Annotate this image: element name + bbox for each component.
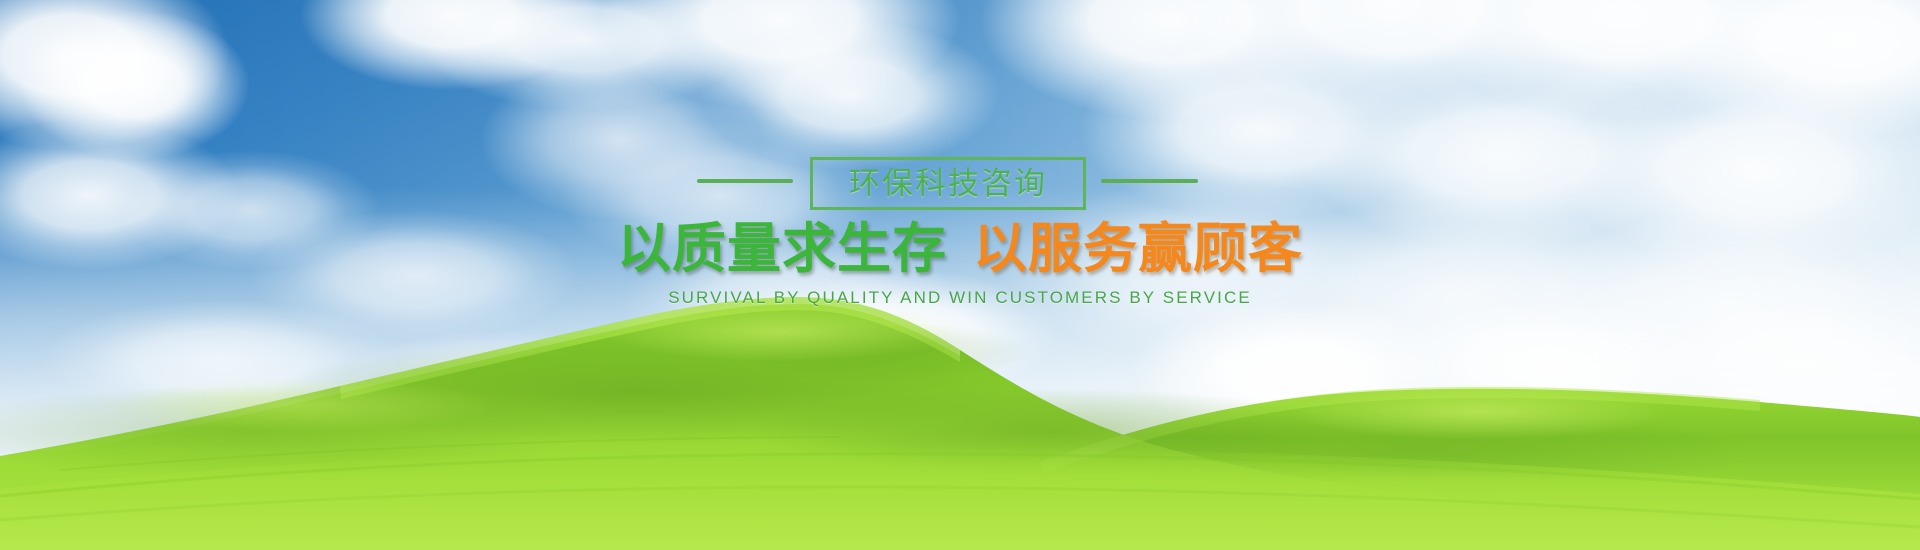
subline: SURVIVAL BY QUALITY AND WIN CUSTOMERS BY…	[0, 288, 1920, 308]
headline-part-green: 以质量求生存	[617, 219, 947, 279]
decorative-rule-right	[1101, 179, 1198, 183]
tagline-text: 环保科技咨询	[849, 168, 1047, 199]
tagline-box: 环保科技咨询	[810, 157, 1086, 210]
headline-part-orange: 以服务赢顾客	[973, 219, 1303, 279]
promo-banner: 环保科技咨询 以质量求生存以服务赢顾客 SURVIVAL BY QUALITY …	[0, 0, 1920, 550]
banner-copy: 环保科技咨询 以质量求生存以服务赢顾客 SURVIVAL BY QUALITY …	[0, 0, 1920, 550]
headline: 以质量求生存以服务赢顾客	[0, 222, 1920, 276]
decorative-rule-left	[697, 179, 793, 183]
